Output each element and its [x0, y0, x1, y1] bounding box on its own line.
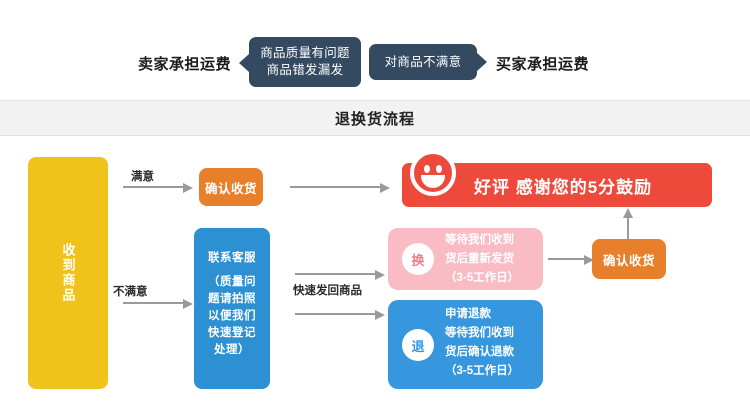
navy-box-unsatisfied: 对商品不满意: [369, 44, 477, 80]
refund-line-2: 等待我们收到: [445, 324, 519, 343]
cs-body-line-3: 以便我们: [208, 308, 256, 325]
refund-badge-label: 退: [411, 336, 424, 355]
refund-text: 申请退款 等待我们收到 货后确认退款 （3-5工作日）: [445, 305, 519, 381]
confirm-receipt-top-box: 确认收货: [199, 168, 263, 206]
top-right-label: 买家承担运费: [496, 53, 589, 74]
exchange-line-1: 等待我们收到: [445, 231, 519, 250]
smiley-left-eye: [424, 165, 430, 173]
refund-line-1: 申请退款: [445, 305, 519, 324]
cs-body: （质量问 题请拍照 以便我们 快速登记 处理）: [208, 274, 256, 359]
cs-body-line-1: （质量问: [208, 274, 256, 291]
confirm-receipt-right-label: 确认收货: [603, 250, 655, 269]
edge-sendback-lower-line: [295, 313, 377, 315]
exchange-line-2: 货后重新发货: [445, 250, 519, 269]
edge-sendback-upper-line: [295, 273, 377, 275]
confirm-to-praise-arrowhead-up: [623, 208, 633, 218]
smiley-right-eye: [436, 165, 442, 173]
banner-title: 退换货流程: [335, 108, 415, 129]
cs-title: 联系客服: [208, 250, 256, 267]
edge-sendback-lower-arrowhead: [375, 310, 385, 320]
exchange-to-confirm-line: [548, 258, 586, 260]
edge-sendback-upper-arrowhead: [375, 270, 385, 280]
start-box-received-product: 收到商品: [28, 157, 108, 389]
confirm-receipt-top-label: 确认收货: [205, 178, 257, 197]
refund-line-4: （3-5工作日）: [445, 362, 519, 381]
exchange-badge-circle: 换: [402, 243, 434, 275]
edge-label-satisfied: 满意: [131, 168, 154, 184]
confirm-receipt-right-box: 确认收货: [592, 239, 666, 279]
navy-box-1-left-arrow: [239, 54, 249, 72]
edge-label-send-back: 快速发回商品: [293, 282, 362, 298]
smiley-mouth: [421, 175, 445, 188]
refund-badge-circle: 退: [402, 329, 434, 361]
edge-satisfied-arrowhead: [183, 183, 193, 193]
navy-box-1-line-1: 商品质量有问题: [260, 45, 350, 62]
start-box-label: 收到商品: [59, 243, 78, 303]
cs-body-line-5: 处理）: [208, 342, 256, 359]
navy-box-2-line-1: 对商品不满意: [385, 54, 462, 71]
top-left-label: 卖家承担运费: [138, 53, 231, 74]
cs-body-line-2: 题请拍照: [208, 291, 256, 308]
exchange-badge-label: 换: [411, 250, 424, 269]
edge-satisfied-line: [123, 186, 185, 188]
flowchart-canvas: 卖家承担运费 商品质量有问题 商品错发漏发 对商品不满意 买家承担运费 退换货流…: [0, 0, 750, 405]
confirm-to-praise-line: [290, 186, 382, 188]
navy-box-2-right-arrow: [477, 53, 487, 71]
smiley-face-icon: [410, 150, 456, 196]
edge-unsatisfied-arrowhead: [183, 299, 193, 309]
contact-customer-service-box: 联系客服 （质量问 题请拍照 以便我们 快速登记 处理）: [194, 228, 270, 389]
edge-label-unsatisfied: 不满意: [113, 283, 148, 299]
confirm-to-praise-arrowhead: [380, 183, 390, 193]
exchange-line-3: （3-5工作日）: [445, 269, 519, 288]
cs-body-line-4: 快速登记: [208, 325, 256, 342]
edge-unsatisfied-line: [123, 302, 185, 304]
navy-box-1-line-2: 商品错发漏发: [267, 62, 344, 79]
navy-box-quality-issue: 商品质量有问题 商品错发漏发: [249, 37, 361, 87]
praise-label: 好评 感谢您的5分鼓励: [474, 173, 652, 198]
refund-line-3: 货后确认退款: [445, 343, 519, 362]
exchange-text: 等待我们收到 货后重新发货 （3-5工作日）: [445, 231, 519, 288]
section-banner: 退换货流程: [0, 100, 750, 136]
